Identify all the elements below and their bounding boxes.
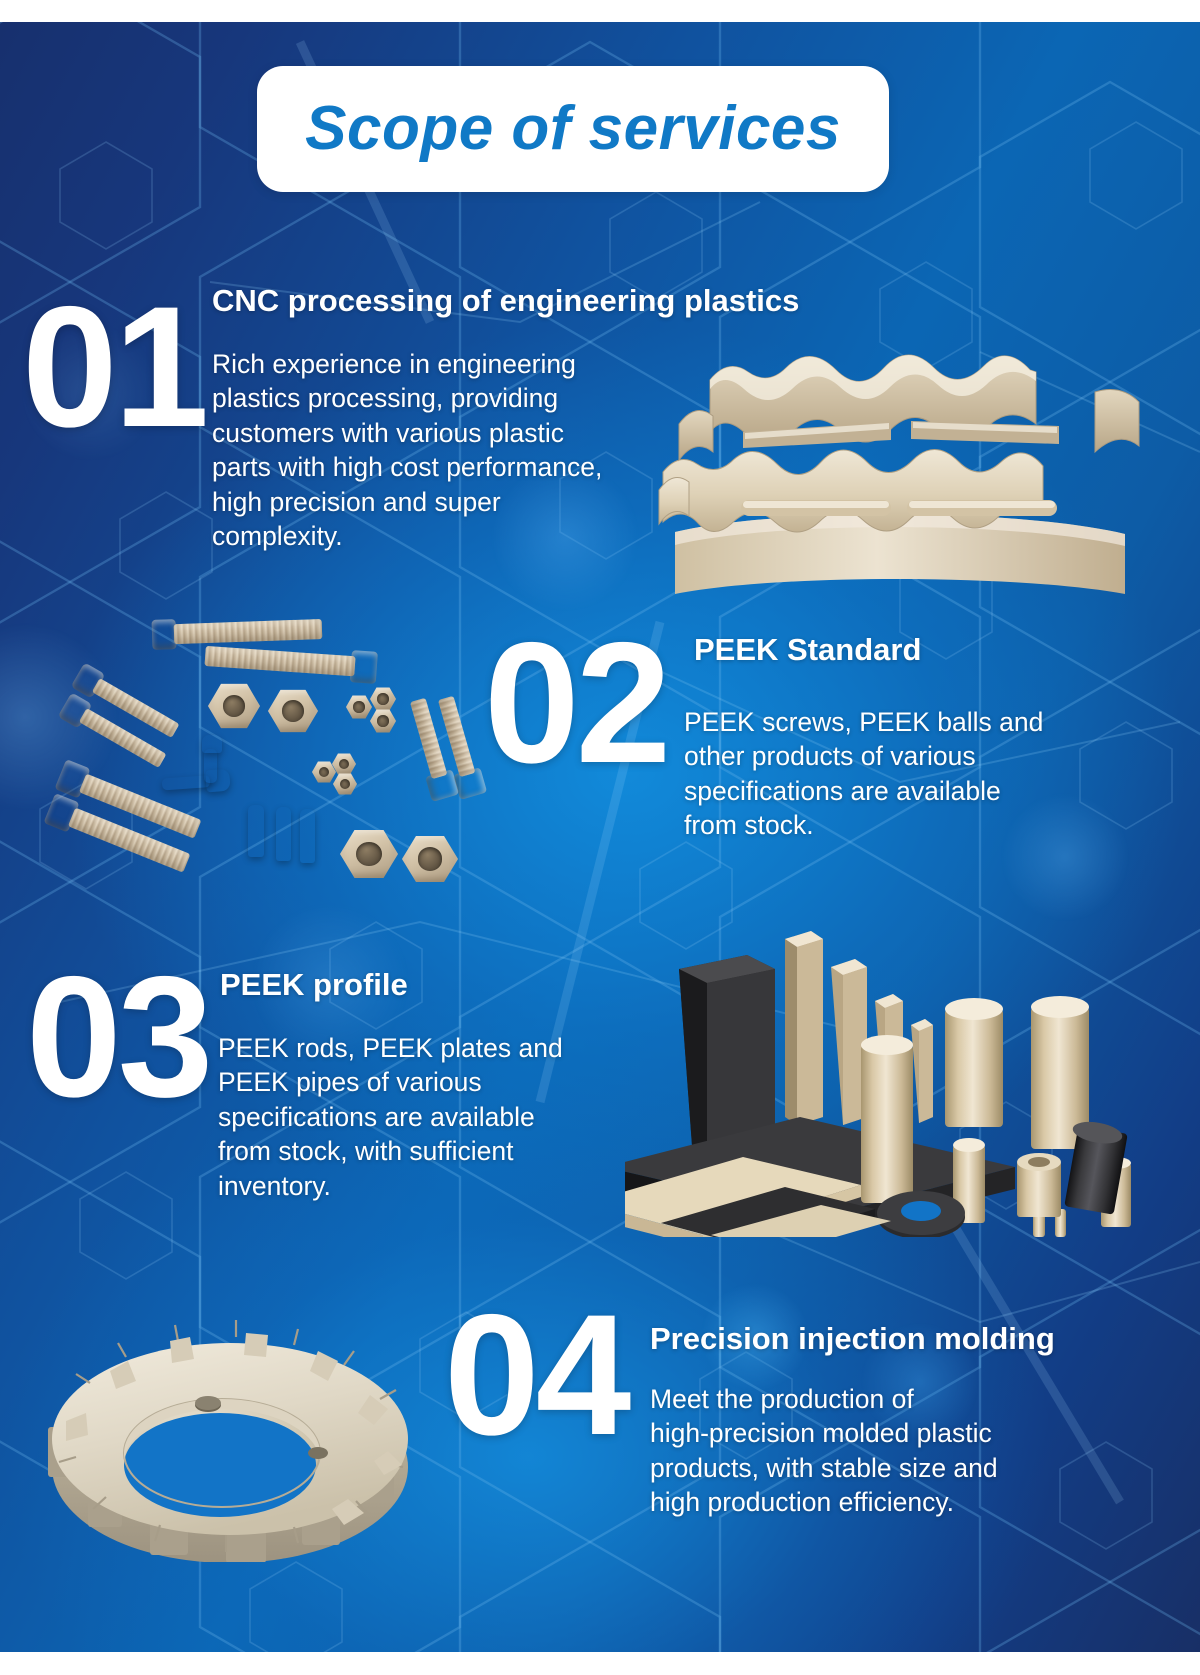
section-body-03: PEEK rods, PEEK plates and PEEK pipes of… [218,1031,563,1203]
peek-bolt [431,694,489,802]
poster-root: Scope of services 01 CNC processing of e… [0,0,1200,1675]
section-body-02: PEEK screws, PEEK balls and other produc… [684,705,1043,843]
peek-hex-nut [370,709,396,733]
peek-screw [300,809,315,863]
black-peek-ring [877,1191,965,1237]
body-line: complexity. [212,519,602,553]
body-line: Meet the production of [650,1382,998,1416]
peek-hex-nut [312,761,336,783]
peek-pan-head-screw [202,735,222,783]
section-heading-03: PEEK profile [220,968,408,1002]
section-body-01: Rich experience in engineering plastics … [212,347,602,554]
body-line: high-precision molded plastic [650,1416,998,1450]
peek-bolt [204,639,381,685]
section-heading-01: CNC processing of engineering plastics [212,284,799,318]
section-body-04: Meet the production of high-precision mo… [650,1382,998,1520]
body-line: customers with various plastic [212,416,602,450]
peek-hex-nut [268,689,318,733]
peek-hex-nut [346,695,372,719]
section-number-03: 03 [26,964,209,1112]
black-peek-bar [625,1117,1015,1237]
poster-background-panel: Scope of services 01 CNC processing of e… [0,22,1200,1652]
body-line: other products of various [684,739,1043,773]
peek-notched-ring-gear-image [30,1277,430,1562]
body-line: PEEK rods, PEEK plates and [218,1031,563,1065]
peek-hex-nut [208,683,260,729]
body-line: PEEK screws, PEEK balls and [684,705,1043,739]
peek-screw [276,807,291,861]
peek-pan-head-screw [161,769,232,796]
peek-bolt [43,792,195,880]
peek-bolt [58,692,171,773]
peek-machined-chain-plate-image [655,322,1145,597]
body-line: high precision and super [212,485,602,519]
body-line: inventory. [218,1169,563,1203]
body-line: specifications are available [684,774,1043,808]
section-heading-04: Precision injection molding [650,1322,1055,1356]
peek-bolt [71,662,184,743]
peek-bolt [403,696,461,804]
page-title: Scope of services [305,98,841,160]
body-line: specifications are available [218,1100,563,1134]
black-peek-tube [1064,1119,1127,1215]
body-line: plastics processing, providing [212,381,602,415]
glow-blob [0,622,120,812]
peek-hex-nut [402,835,458,883]
beige-peek-rods [861,996,1131,1237]
black-peek-block [679,955,775,1159]
peek-bolt [151,612,320,652]
peek-hex-nut [333,773,357,795]
beige-square-bars [785,931,933,1125]
peek-hex-nut [370,687,396,711]
body-line: PEEK pipes of various [218,1065,563,1099]
section-heading-02: PEEK Standard [694,633,921,667]
body-line: from stock. [684,808,1043,842]
body-line: from stock, with sufficient [218,1134,563,1168]
peek-bolt [54,758,206,846]
section-number-01: 01 [22,294,205,442]
body-line: products, with stable size and [650,1451,998,1485]
section-number-02: 02 [484,630,667,778]
body-line: high production efficiency. [650,1485,998,1519]
peek-plates-stack [625,1157,891,1237]
beige-peek-tube [1017,1153,1061,1217]
body-line: Rich experience in engineering [212,347,602,381]
section-number-04: 04 [444,1302,627,1450]
gear-outer-wall [52,1371,408,1562]
body-line: parts with high cost performance, [212,450,602,484]
peek-hex-nut [340,829,398,879]
peek-hex-nut [332,753,356,775]
peek-screw [248,805,264,857]
title-pill: Scope of services [257,66,889,192]
peek-rods-plates-tubes-image [625,917,1150,1237]
peek-screws-nuts-bolts-image [40,567,470,877]
